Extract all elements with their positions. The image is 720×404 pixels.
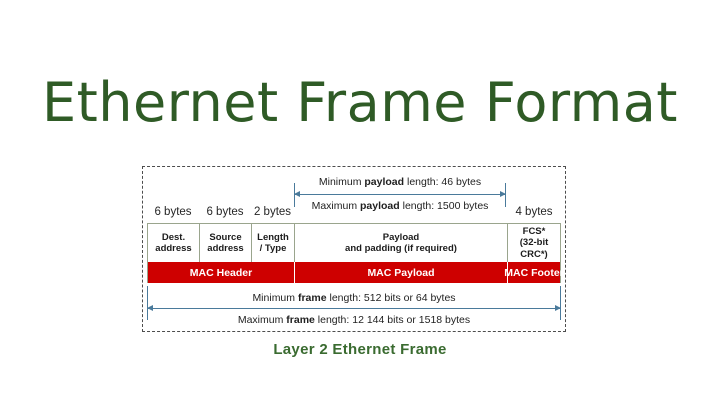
page-title: Ethernet Frame Format bbox=[0, 72, 720, 134]
maximum-frame-length-label: Maximum frame length: 12 144 bits or 151… bbox=[147, 314, 561, 326]
ethernet-frame-diagram: 6 bytes 6 bytes 2 bytes 4 bytes Minimum … bbox=[142, 166, 566, 332]
max-payload-prefix: Maximum bbox=[312, 200, 360, 212]
byte-label-source-address: 6 bytes bbox=[199, 206, 251, 219]
frame-field-table: Dest. address Source address Length / Ty… bbox=[147, 223, 561, 283]
min-frame-prefix: Minimum bbox=[252, 292, 298, 304]
max-frame-keyword: frame bbox=[286, 314, 315, 326]
mac-header-band: MAC Header bbox=[148, 262, 295, 283]
frame-arrow-line bbox=[147, 308, 561, 309]
byte-label-fcs: 4 bytes bbox=[507, 206, 561, 219]
field-fcs-line1: FCS* bbox=[523, 226, 546, 238]
maximum-payload-length-label: Maximum payload length: 1500 bytes bbox=[288, 200, 512, 212]
field-fcs-line2: (32-bit CRC*) bbox=[508, 237, 560, 260]
field-length-type: Length / Type bbox=[252, 224, 295, 262]
field-source-address-line1: Source bbox=[209, 232, 241, 244]
minimum-payload-length-label: Minimum payload length: 46 bytes bbox=[294, 176, 506, 188]
field-payload-line2: and padding (if required) bbox=[345, 243, 457, 255]
diagram-caption: Layer 2 Ethernet Frame bbox=[0, 341, 720, 358]
field-dest-address-line1: Dest. bbox=[162, 232, 185, 244]
field-source-address: Source address bbox=[200, 224, 252, 262]
max-payload-keyword: payload bbox=[360, 200, 400, 212]
field-dest-address: Dest. address bbox=[148, 224, 200, 262]
max-frame-suffix: length: 12 144 bits or 1518 bytes bbox=[315, 314, 470, 326]
byte-label-dest-address: 6 bytes bbox=[147, 206, 199, 219]
min-frame-suffix: length: 512 bits or 64 bytes bbox=[327, 292, 456, 304]
field-payload: Payload and padding (if required) bbox=[295, 224, 508, 262]
min-payload-keyword: payload bbox=[364, 176, 404, 188]
mac-footer-band: MAC Footer bbox=[508, 262, 560, 283]
payload-arrow-line bbox=[294, 194, 506, 195]
max-frame-prefix: Maximum bbox=[238, 314, 286, 326]
field-length-type-line2: / Type bbox=[260, 243, 287, 255]
min-payload-suffix: length: 46 bytes bbox=[404, 176, 481, 188]
min-frame-keyword: frame bbox=[298, 292, 327, 304]
minimum-frame-length-label: Minimum frame length: 512 bits or 64 byt… bbox=[147, 292, 561, 304]
field-fcs: FCS* (32-bit CRC*) bbox=[508, 224, 560, 262]
field-length-type-line1: Length bbox=[257, 232, 289, 244]
min-payload-prefix: Minimum bbox=[319, 176, 365, 188]
field-source-address-line2: address bbox=[207, 243, 243, 255]
max-payload-suffix: length: 1500 bytes bbox=[400, 200, 489, 212]
mac-payload-band: MAC Payload bbox=[295, 262, 508, 283]
field-dest-address-line2: address bbox=[155, 243, 191, 255]
field-payload-line1: Payload bbox=[383, 232, 419, 244]
